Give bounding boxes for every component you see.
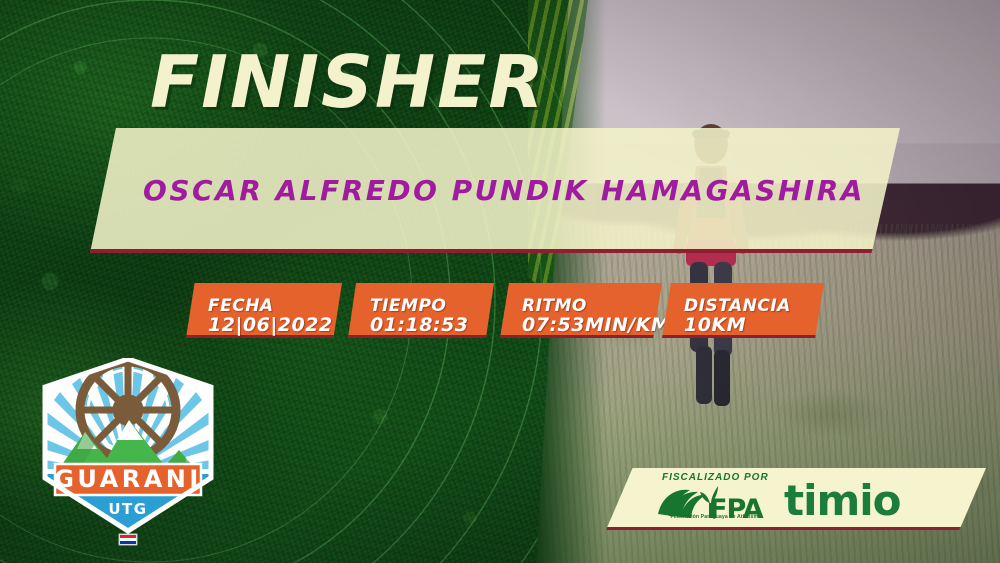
fpa-text: FPA bbox=[709, 494, 764, 525]
athlete-name: OSCAR ALFREDO PUNDIK HAMAGASHIRA bbox=[90, 128, 900, 253]
stat-card-tiempo[interactable]: TIEMPO 01:18:53 bbox=[348, 283, 494, 338]
stat-value: 10KM bbox=[684, 316, 791, 336]
fpa-logo[interactable]: FPA bbox=[656, 484, 771, 528]
sponsor-heading: FISCALIZADO POR bbox=[662, 472, 769, 483]
stat-value: 01:18:53 bbox=[370, 316, 469, 336]
timio-logo[interactable]: timio bbox=[784, 476, 901, 525]
stat-value: 07:53MIN/KM bbox=[522, 316, 670, 336]
stat-card-fecha[interactable]: FECHA 12|06|2022 bbox=[186, 283, 342, 338]
page-title: FINISHER bbox=[150, 46, 546, 118]
badge-abbrev-text: UTG bbox=[108, 500, 147, 518]
stat-value: 12|06|2022 bbox=[208, 316, 333, 336]
sponsor-bar: FISCALIZADO POR FPA Federación Paraguaya… bbox=[606, 468, 986, 530]
stat-card-distancia[interactable]: DISTANCIA 10KM bbox=[662, 283, 824, 338]
ultra-trail-guarani-badge[interactable]: ULTRA-TRAIL ® GUARANI UTG bbox=[33, 358, 223, 553]
finisher-certificate: FINISHER OSCAR ALFREDO PUNDIK HAMAGASHIR… bbox=[0, 0, 1000, 563]
badge-name-text: GUARANI bbox=[54, 465, 202, 493]
fpa-subtitle: Federación Paraguaya de Atletismo bbox=[656, 514, 776, 520]
badge-flag-tab bbox=[119, 534, 137, 545]
stat-card-ritmo[interactable]: RITMO 07:53MIN/KM bbox=[500, 283, 662, 338]
